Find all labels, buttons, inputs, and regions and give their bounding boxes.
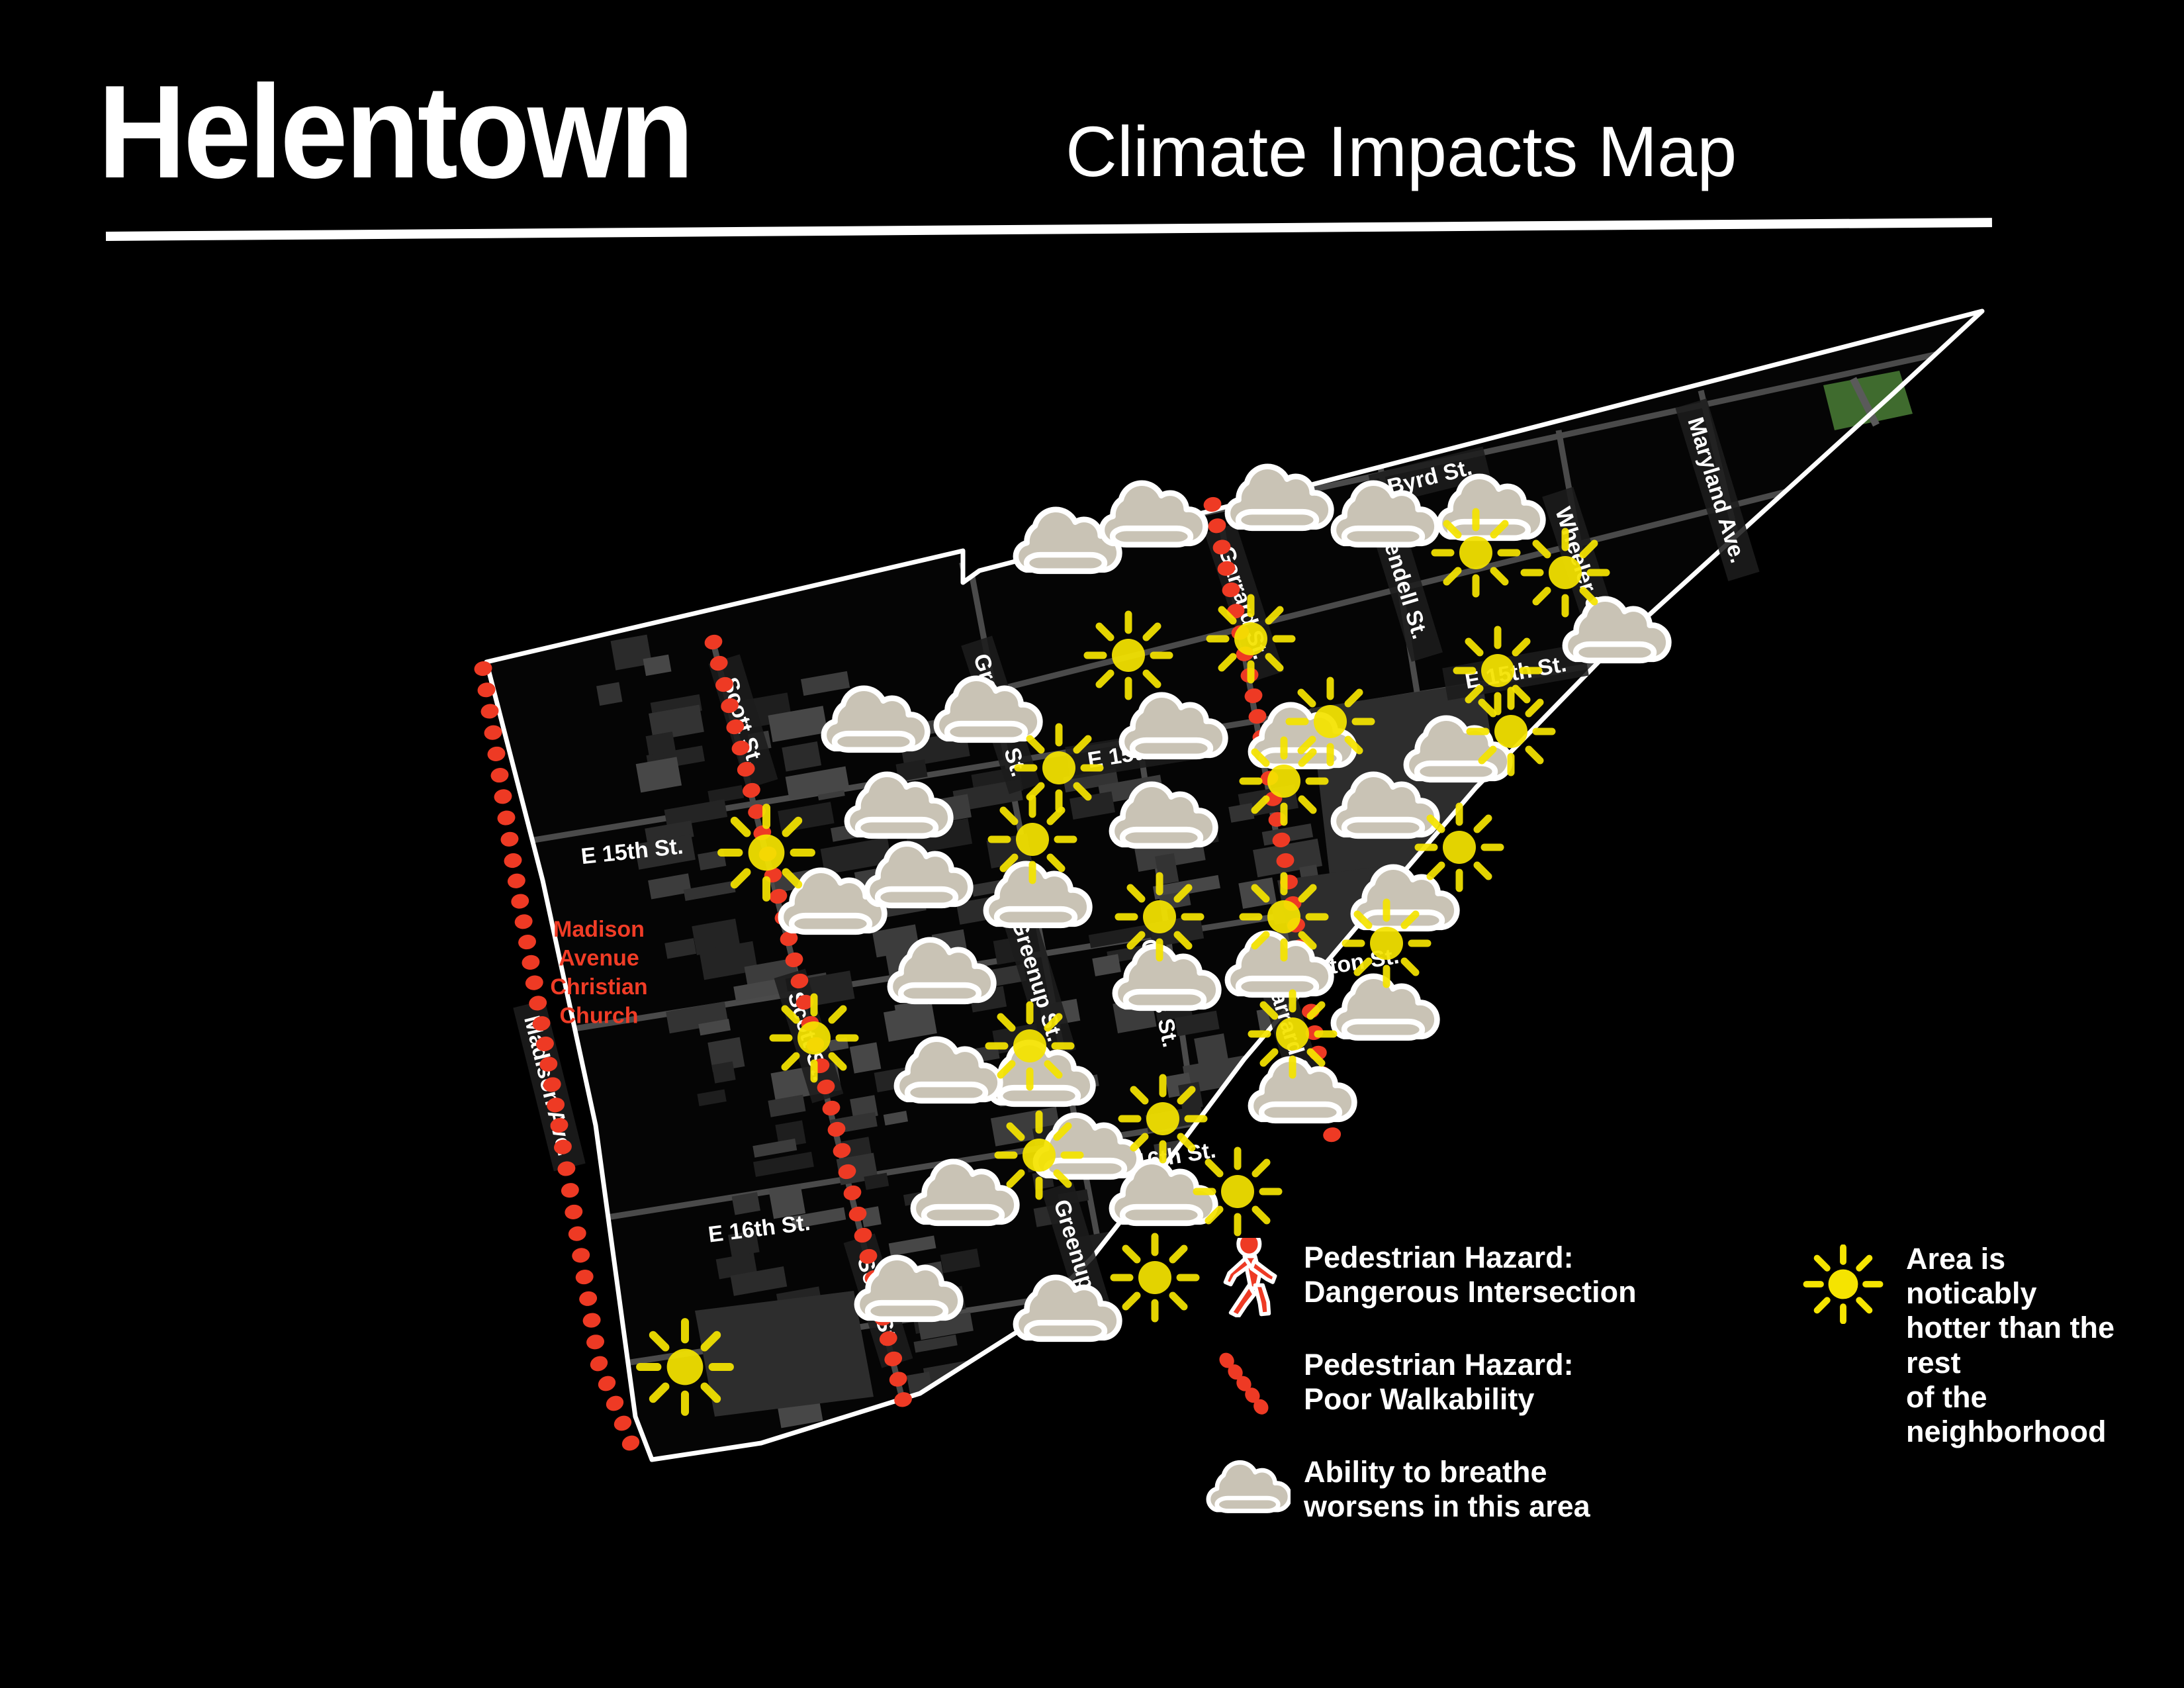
svg-text:Church: Church [560, 1004, 639, 1029]
map-legend: Pedestrian Hazard: Dangerous Intersectio… [1205, 1238, 2144, 1589]
cloud-marker-23[interactable] [1251, 1059, 1355, 1121]
legend-item-breathing[interactable]: Ability to breathe worsens in this area [1205, 1452, 1747, 1532]
legend-label-heat-island: Area is noticably hotter than the rest o… [1906, 1242, 2144, 1449]
sun-marker-5[interactable] [1435, 512, 1517, 594]
sun-marker-22[interactable] [1524, 532, 1606, 614]
red-dotted-line-icon [1205, 1345, 1291, 1425]
legend-item-heat-island[interactable]: Area is noticably hotter than the rest o… [1800, 1244, 2144, 1324]
sun-marker-0[interactable] [1087, 614, 1169, 696]
sun-marker-18[interactable] [998, 1114, 1080, 1196]
sun-icon [1800, 1244, 1886, 1324]
sun-marker-3[interactable] [1289, 680, 1371, 763]
sun-marker-1[interactable] [1210, 598, 1292, 680]
svg-text:Christian: Christian [550, 974, 647, 1000]
sun-marker-11[interactable] [1243, 876, 1325, 958]
legend-item-poor-walkability[interactable]: Pedestrian Hazard: Poor Walkability [1205, 1345, 1747, 1425]
legend-label-dangerous-intersection: Pedestrian Hazard: Dangerous Intersectio… [1304, 1241, 1637, 1309]
sun-marker-21[interactable] [640, 1322, 730, 1412]
legend-label-poor-walkability: Pedestrian Hazard: Poor Walkability [1304, 1348, 1574, 1417]
sun-marker-14[interactable] [773, 997, 855, 1079]
legend-column-left: Pedestrian Hazard: Dangerous Intersectio… [1205, 1238, 1747, 1532]
sun-marker-15[interactable] [989, 1005, 1071, 1087]
sun-marker-20[interactable] [1114, 1237, 1196, 1319]
svg-text:Avenue: Avenue [559, 946, 639, 971]
sun-marker-6[interactable] [1457, 630, 1539, 712]
sun-marker-9[interactable] [991, 798, 1073, 880]
sun-marker-8[interactable] [721, 808, 811, 898]
sun-marker-10[interactable] [1118, 876, 1201, 958]
sun-marker-16[interactable] [1251, 993, 1334, 1075]
sun-marker-13[interactable] [1345, 902, 1428, 984]
legend-label-breathing: Ability to breathe worsens in this area [1304, 1455, 1590, 1524]
svg-text:Madison: Madison [553, 917, 645, 942]
sun-marker-4[interactable] [1243, 740, 1325, 822]
sun-marker-12[interactable] [1418, 806, 1500, 888]
sun-marker-17[interactable] [1122, 1078, 1204, 1160]
cloud-marker-1[interactable] [1102, 483, 1206, 545]
legend-column-right: Area is noticably hotter than the rest o… [1800, 1244, 2144, 1352]
cloud-icon [1205, 1452, 1291, 1532]
pedestrian-walking-icon [1205, 1238, 1291, 1317]
legend-item-dangerous-intersection[interactable]: Pedestrian Hazard: Dangerous Intersectio… [1205, 1238, 1747, 1317]
sun-marker-19[interactable] [1197, 1150, 1279, 1233]
sun-marker-7[interactable] [1470, 690, 1552, 773]
cloud-marker-2[interactable] [1228, 467, 1332, 528]
